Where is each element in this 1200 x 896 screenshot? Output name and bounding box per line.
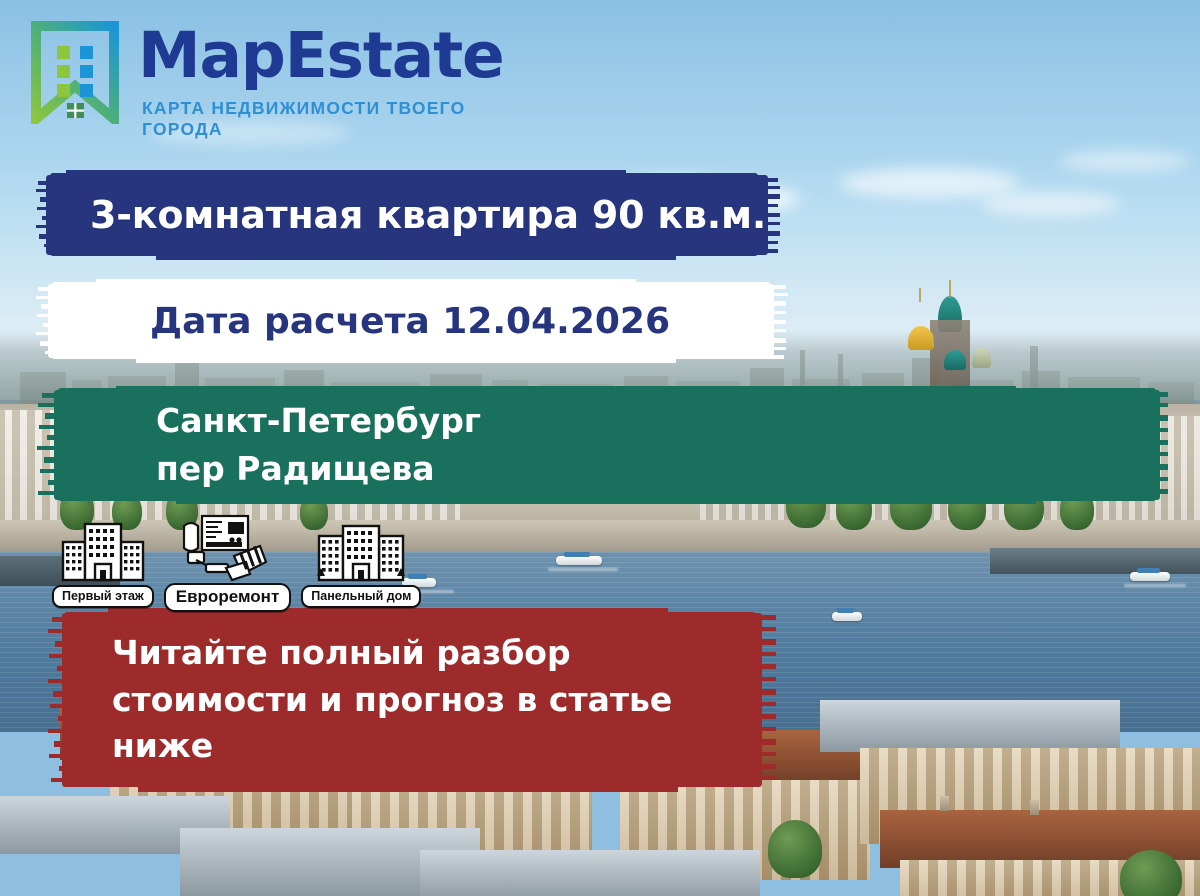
boat [556,556,602,565]
feature-badges: Первый этаж [52,512,421,608]
location-banner: Санкт-Петербург пер Радищева [36,385,1168,505]
cta-text: Читайте полный разбор стоимости и прогно… [112,630,712,771]
city-name: Санкт-Петербург [156,397,481,445]
apartment-building-icon [59,520,147,591]
date-banner: Дата расчета 12.04.2026 [36,277,788,365]
bookmark-building-icon [26,20,124,124]
badge-renovation[interactable]: Евроремонт [164,512,292,612]
brand-logo[interactable]: MapEstate КАРТА НЕДВИЖИМОСТИ ТВОЕГО ГОРО… [26,14,546,132]
location-text: Санкт-Петербург пер Радищева [156,397,481,493]
badge-first-floor[interactable]: Первый этаж [52,520,154,608]
brand-tagline: КАРТА НЕДВИЖИМОСТИ ТВОЕГО ГОРОДА [142,98,546,140]
street-name: пер Радищева [156,445,481,493]
boat [832,612,862,621]
bridge-right [990,548,1200,574]
cta-banner[interactable]: Читайте полный разбор стоимости и прогно… [48,607,776,793]
cloud [980,192,1120,216]
property-title: 3-комнатная квартира 90 кв.м. [90,193,766,237]
renovation-tools-icon [176,512,280,589]
cloud [1060,150,1190,172]
badge-panel-house[interactable]: Панельный дом [301,520,421,608]
brand-name: MapEstate [138,24,504,87]
calculation-date: Дата расчета 12.04.2026 [150,301,670,342]
boat [1130,572,1170,581]
panel-house-icon [315,520,407,591]
cloud [840,168,1020,198]
poster-canvas: MapEstate КАРТА НЕДВИЖИМОСТИ ТВОЕГО ГОРО… [0,0,1200,896]
title-banner: 3-комнатная квартира 90 кв.м. [36,169,780,261]
